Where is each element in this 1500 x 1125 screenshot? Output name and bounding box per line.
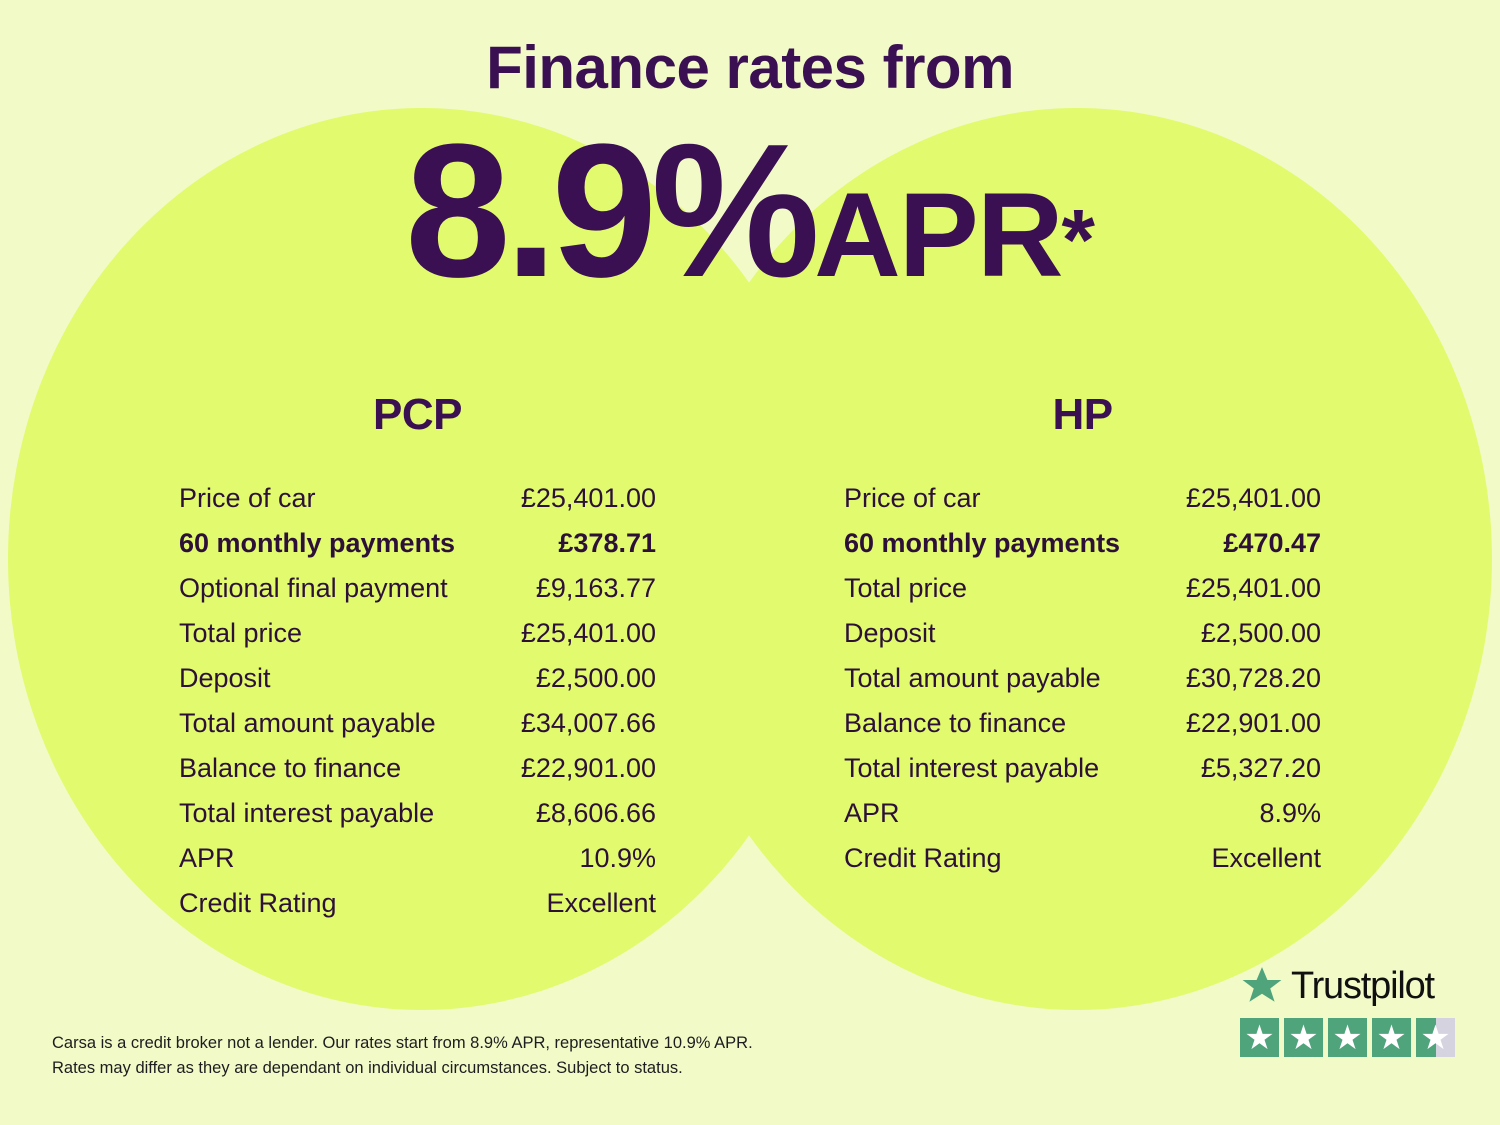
row-value: £22,901.00	[1186, 701, 1321, 746]
rating-star-half	[1416, 1018, 1455, 1057]
page-title: Finance rates from	[0, 38, 1500, 98]
row-value: £25,401.00	[1186, 476, 1321, 521]
plan-rows-hp: Price of car £25,401.00 60 monthly payme…	[830, 476, 1335, 881]
row-label: 60 monthly payments	[844, 521, 1120, 566]
rating-star	[1372, 1018, 1411, 1057]
finance-rates-card: Finance rates from 8.9%APR* PCP Price of…	[0, 0, 1500, 1125]
plan-title-hp: HP	[830, 390, 1335, 440]
row-value: £25,401.00	[521, 611, 656, 656]
row-value: £8,606.66	[536, 791, 656, 836]
row-value: £378.71	[558, 521, 656, 566]
table-row: Total price £25,401.00	[165, 611, 670, 656]
finance-comparison-tables: PCP Price of car £25,401.00 60 monthly p…	[0, 390, 1500, 926]
legal-disclaimer: Carsa is a credit broker not a lender. O…	[52, 1031, 872, 1081]
row-label: Balance to finance	[844, 701, 1066, 746]
rating-star	[1284, 1018, 1323, 1057]
hero-asterisk: *	[1061, 193, 1094, 289]
row-label: Balance to finance	[179, 746, 401, 791]
row-label: Optional final payment	[179, 566, 448, 611]
row-label: Price of car	[179, 476, 316, 521]
table-row: Total amount payable £34,007.66	[165, 701, 670, 746]
row-label: Total interest payable	[179, 791, 434, 836]
table-row: Price of car £25,401.00	[830, 476, 1335, 521]
row-value: £2,500.00	[536, 656, 656, 701]
trustpilot-star-icon	[1240, 965, 1284, 1007]
table-row: Total price £25,401.00	[830, 566, 1335, 611]
table-row: Balance to finance £22,901.00	[165, 746, 670, 791]
row-label: Credit Rating	[844, 836, 1002, 881]
row-value: 10.9%	[579, 836, 656, 881]
star-icon	[1416, 1018, 1455, 1057]
row-value: £34,007.66	[521, 701, 656, 746]
table-row: 60 monthly payments £378.71	[165, 521, 670, 566]
row-label: Total interest payable	[844, 746, 1099, 791]
trustpilot-wordmark: Trustpilot	[1291, 967, 1434, 1005]
row-value: 8.9%	[1259, 791, 1321, 836]
rating-star	[1240, 1018, 1279, 1057]
plan-pcp: PCP Price of car £25,401.00 60 monthly p…	[165, 390, 670, 926]
plan-rows-pcp: Price of car £25,401.00 60 monthly payme…	[165, 476, 670, 926]
row-label: Total price	[844, 566, 967, 611]
row-value: £5,327.20	[1201, 746, 1321, 791]
table-row: Price of car £25,401.00	[165, 476, 670, 521]
row-label: 60 monthly payments	[179, 521, 455, 566]
disclaimer-line-2: Rates may differ as they are dependant o…	[52, 1056, 872, 1081]
plan-title-pcp: PCP	[165, 390, 670, 440]
table-row: APR 8.9%	[830, 791, 1335, 836]
row-value: £30,728.20	[1186, 656, 1321, 701]
row-value: £2,500.00	[1201, 611, 1321, 656]
row-value: Excellent	[546, 881, 656, 926]
table-row: Credit Rating Excellent	[165, 881, 670, 926]
star-icon	[1284, 1018, 1323, 1057]
trustpilot-logo: Trustpilot	[1240, 962, 1458, 1010]
hero-apr-label: APR	[814, 168, 1061, 302]
row-label: Total price	[179, 611, 302, 656]
star-icon	[1372, 1018, 1411, 1057]
star-icon	[1328, 1018, 1367, 1057]
row-label: APR	[179, 836, 235, 881]
table-row: 60 monthly payments £470.47	[830, 521, 1335, 566]
disclaimer-line-1: Carsa is a credit broker not a lender. O…	[52, 1031, 872, 1056]
trustpilot-rating-stars	[1240, 1018, 1458, 1057]
row-label: Total amount payable	[179, 701, 436, 746]
plan-hp: HP Price of car £25,401.00 60 monthly pa…	[830, 390, 1335, 926]
table-row: Optional final payment £9,163.77	[165, 566, 670, 611]
table-row: Deposit £2,500.00	[165, 656, 670, 701]
row-label: Deposit	[179, 656, 271, 701]
row-value: Excellent	[1211, 836, 1321, 881]
table-row: Balance to finance £22,901.00	[830, 701, 1335, 746]
hero-rate-block: 8.9%APR*	[0, 116, 1500, 306]
row-value: £9,163.77	[536, 566, 656, 611]
table-row: Credit Rating Excellent	[830, 836, 1335, 881]
table-row: Total amount payable £30,728.20	[830, 656, 1335, 701]
row-value: £25,401.00	[1186, 566, 1321, 611]
row-label: Credit Rating	[179, 881, 337, 926]
row-value: £22,901.00	[521, 746, 656, 791]
trustpilot-widget[interactable]: Trustpilot	[1240, 962, 1458, 1057]
row-label: Price of car	[844, 476, 981, 521]
table-row: APR 10.9%	[165, 836, 670, 881]
rating-star	[1328, 1018, 1367, 1057]
row-value: £470.47	[1223, 521, 1321, 566]
row-value: £25,401.00	[521, 476, 656, 521]
hero-apr-rate: 8.9%	[405, 105, 814, 317]
star-icon	[1240, 1018, 1279, 1057]
row-label: Deposit	[844, 611, 936, 656]
row-label: APR	[844, 791, 900, 836]
table-row: Total interest payable £8,606.66	[165, 791, 670, 836]
table-row: Total interest payable £5,327.20	[830, 746, 1335, 791]
row-label: Total amount payable	[844, 656, 1101, 701]
table-row: Deposit £2,500.00	[830, 611, 1335, 656]
